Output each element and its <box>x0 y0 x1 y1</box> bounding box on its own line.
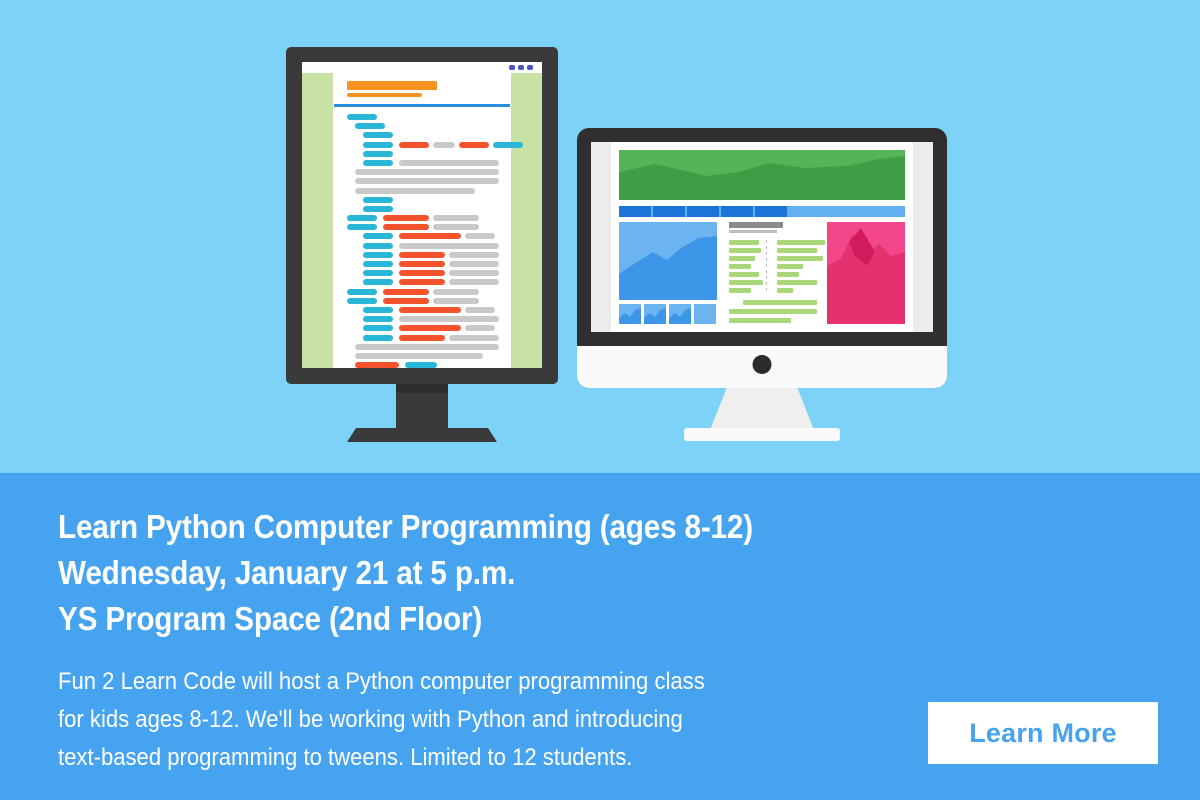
code-token <box>399 233 461 239</box>
code-token <box>465 233 495 239</box>
code-token <box>399 270 445 276</box>
blue-area-chart-icon <box>619 222 717 300</box>
text-bar <box>729 264 751 269</box>
text-bar <box>777 240 825 245</box>
text-row <box>729 280 819 285</box>
dashboard-nav-tab[interactable] <box>755 206 787 217</box>
code-editor-monitor <box>286 47 558 384</box>
code-line <box>333 224 511 230</box>
code-token <box>355 169 499 175</box>
monitor-screen <box>302 62 542 368</box>
code-line <box>333 188 511 194</box>
text-bar <box>777 256 823 261</box>
dashboard-nav-tab[interactable] <box>619 206 651 217</box>
learn-more-button[interactable]: Learn More <box>928 702 1158 764</box>
code-line <box>333 353 511 359</box>
divider-rule <box>334 104 510 107</box>
dashboard-nav-tabs[interactable] <box>619 206 905 217</box>
left-monitor-neck <box>396 384 448 429</box>
code-token <box>433 289 479 295</box>
camera-dot-icon <box>753 355 772 374</box>
code-token <box>347 224 377 230</box>
thumbnail-strip <box>619 304 716 324</box>
description-line-3: text-based programming to tweens. Limite… <box>58 739 868 777</box>
code-token <box>399 316 499 322</box>
text-rows <box>729 240 819 296</box>
code-line <box>333 298 511 304</box>
code-line <box>333 243 511 249</box>
code-token <box>383 224 429 230</box>
monitor-screen <box>591 142 933 332</box>
text-row <box>729 240 819 245</box>
code-token <box>405 362 437 368</box>
code-token <box>355 344 499 350</box>
code-line <box>333 233 511 239</box>
code-line <box>333 114 511 120</box>
code-token <box>355 353 483 359</box>
text-bar <box>729 309 817 314</box>
code-line <box>333 252 511 258</box>
code-token <box>383 298 429 304</box>
dashboard-nav-tab[interactable] <box>721 206 753 217</box>
code-token <box>493 142 523 148</box>
code-line <box>333 215 511 221</box>
text-bar <box>729 288 751 293</box>
text-row <box>729 264 819 269</box>
code-token <box>449 252 499 258</box>
code-token <box>433 224 479 230</box>
code-token <box>383 289 429 295</box>
code-token <box>355 123 385 129</box>
right-monitor-neck <box>710 388 814 430</box>
heading-bar-primary <box>347 81 437 90</box>
text-columns-panel <box>725 222 819 324</box>
code-token <box>363 142 393 148</box>
blue-chart-panel <box>619 222 717 300</box>
code-token <box>465 307 495 313</box>
code-token <box>363 307 393 313</box>
text-row <box>729 256 819 261</box>
code-line <box>333 151 511 157</box>
code-token <box>363 197 393 203</box>
code-token <box>383 215 429 221</box>
code-token <box>433 298 479 304</box>
code-line <box>333 270 511 276</box>
promo-poster: Learn Python Computer Programming (ages … <box>0 0 1200 800</box>
code-token <box>347 114 377 120</box>
code-token <box>355 178 499 184</box>
pink-mountain-chart-icon <box>827 222 905 324</box>
text-bar <box>729 318 791 323</box>
headline-line-datetime: Wednesday, January 21 at 5 p.m. <box>58 550 886 596</box>
code-token <box>399 142 429 148</box>
code-token <box>363 243 393 249</box>
left-monitor-base <box>347 428 497 442</box>
code-line <box>333 169 511 175</box>
headline-line-location: YS Program Space (2nd Floor) <box>58 596 886 642</box>
code-token <box>363 160 393 166</box>
chart-thumbnail[interactable] <box>669 304 691 324</box>
window-controls-icon <box>509 65 533 70</box>
code-token <box>459 142 489 148</box>
code-line <box>333 335 511 341</box>
code-line <box>333 279 511 285</box>
code-token <box>399 325 461 331</box>
chart-thumbnail[interactable] <box>619 304 641 324</box>
description-line-1: Fun 2 Learn Code will host a Python comp… <box>58 663 868 701</box>
code-token <box>363 270 393 276</box>
text-bar <box>777 272 799 277</box>
code-token <box>347 298 377 304</box>
text-bar <box>777 280 817 285</box>
code-token <box>363 252 393 258</box>
code-token <box>347 289 377 295</box>
pink-chart-panel <box>827 222 905 324</box>
code-token <box>355 188 475 194</box>
code-line <box>333 142 511 148</box>
code-token <box>363 279 393 285</box>
code-line <box>333 325 511 331</box>
heading-bar-secondary <box>347 93 422 97</box>
headline-line-title: Learn Python Computer Programming (ages … <box>58 504 886 550</box>
code-token <box>347 215 377 221</box>
code-token <box>363 233 393 239</box>
text-bar <box>777 248 817 253</box>
code-line <box>333 132 511 138</box>
text-bar <box>729 280 763 285</box>
right-monitor-base <box>684 428 840 441</box>
monitor-chin <box>577 346 947 388</box>
text-bar <box>743 300 817 305</box>
section-subheading-bar <box>729 230 777 233</box>
dashboard-body <box>619 222 905 324</box>
code-line <box>333 344 511 350</box>
description-line-2: for kids ages 8-12. We'll be working wit… <box>58 701 868 739</box>
code-token <box>399 252 445 258</box>
code-line <box>333 206 511 212</box>
text-bar <box>729 240 759 245</box>
code-line <box>333 160 511 166</box>
hero-illustration <box>0 0 1200 473</box>
code-token <box>363 316 393 322</box>
code-token <box>399 243 499 249</box>
code-token <box>399 307 461 313</box>
code-line <box>333 362 511 368</box>
code-line <box>333 261 511 267</box>
code-token <box>363 325 393 331</box>
code-line <box>333 197 511 203</box>
green-area-chart-icon <box>619 150 905 200</box>
code-line <box>333 316 511 322</box>
dashboard-monitor <box>577 128 947 388</box>
description-text: Fun 2 Learn Code will host a Python comp… <box>58 663 868 777</box>
dashboard-page <box>611 142 913 332</box>
dashboard-nav-tab[interactable] <box>653 206 685 217</box>
footer-text-rows <box>729 300 819 327</box>
code-token <box>355 362 399 368</box>
code-content-area <box>333 62 511 368</box>
learn-more-label: Learn More <box>969 718 1117 749</box>
text-bar <box>777 264 803 269</box>
text-bar <box>777 288 793 293</box>
code-token <box>363 261 393 267</box>
code-token <box>399 335 445 341</box>
dashboard-nav-tab[interactable] <box>687 206 719 217</box>
code-token <box>433 142 455 148</box>
code-token <box>363 206 393 212</box>
code-token <box>399 279 445 285</box>
code-token <box>465 325 495 331</box>
text-row <box>729 272 819 277</box>
code-token <box>433 215 479 221</box>
code-line <box>333 307 511 313</box>
code-token <box>363 151 393 157</box>
chart-thumbnail[interactable] <box>644 304 666 324</box>
code-token <box>449 261 499 267</box>
code-lines <box>333 114 511 368</box>
text-row <box>729 248 819 253</box>
code-token <box>363 335 393 341</box>
code-token <box>449 335 499 341</box>
chart-thumbnail[interactable] <box>694 304 716 324</box>
code-line <box>333 123 511 129</box>
code-line <box>333 178 511 184</box>
code-token <box>449 279 499 285</box>
text-bar <box>729 256 755 261</box>
text-bar <box>729 272 759 277</box>
code-token <box>363 132 393 138</box>
code-line <box>333 289 511 295</box>
code-token <box>399 160 499 166</box>
code-token <box>399 261 445 267</box>
text-bar <box>729 248 761 253</box>
section-heading-bar <box>729 222 783 228</box>
hero-banner-chart <box>619 150 905 200</box>
page-title: Learn Python Computer Programming (ages … <box>58 504 886 642</box>
code-token <box>449 270 499 276</box>
text-row <box>729 288 819 293</box>
